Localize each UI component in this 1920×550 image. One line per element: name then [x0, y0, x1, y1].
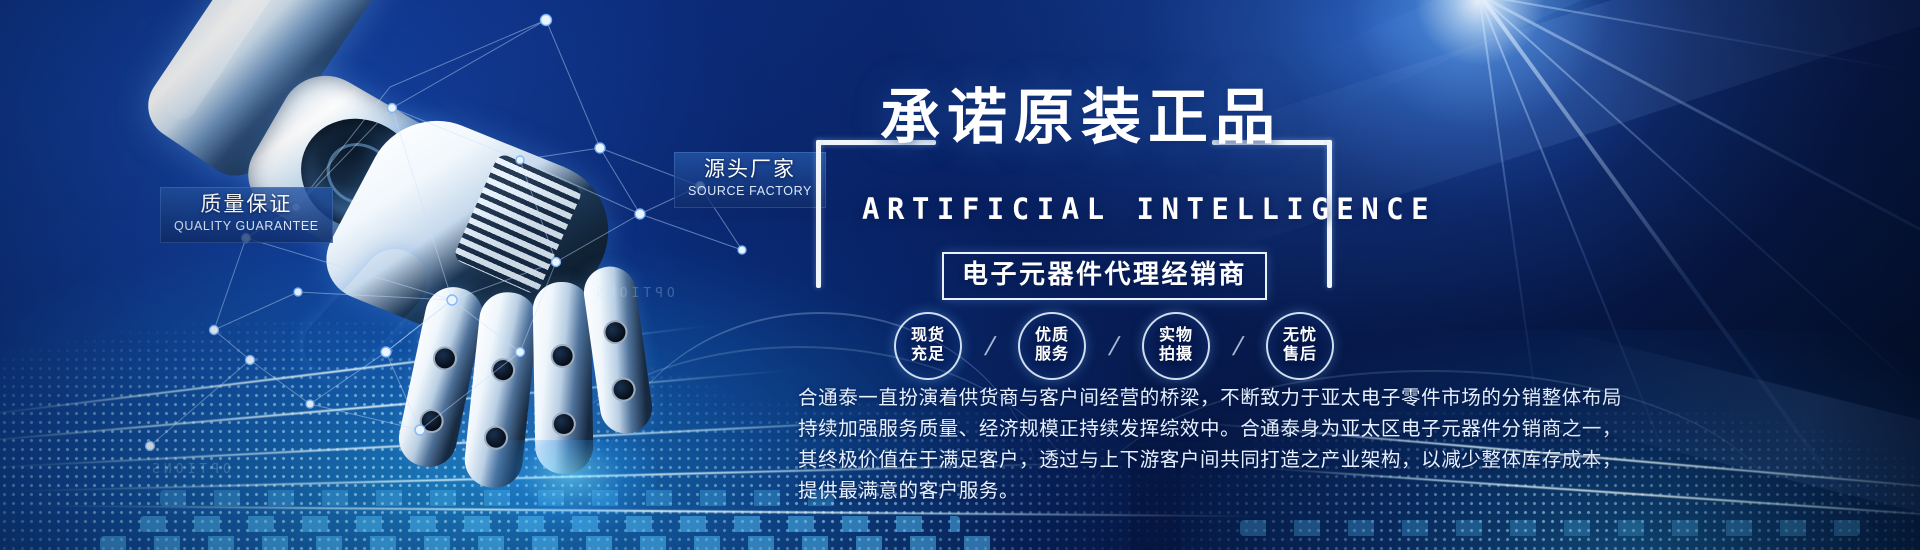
promo-banner: OPTIONS OPTIONS 质量保证 QUALITY GUARANTEE 源… [0, 0, 1920, 550]
vignette-overlay [0, 0, 1920, 550]
